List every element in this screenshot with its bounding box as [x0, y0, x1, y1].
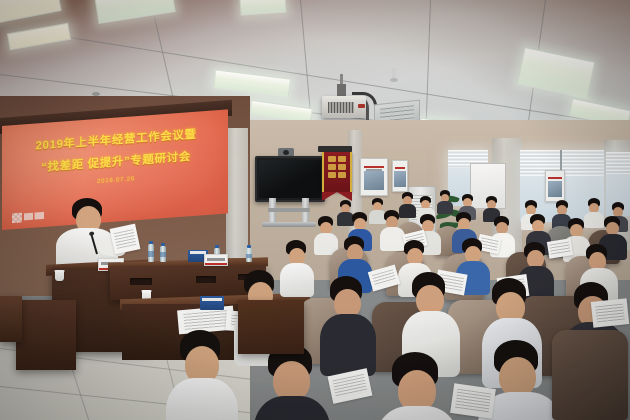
handout [591, 298, 630, 328]
foreground-desk [16, 300, 76, 370]
flat-screen-tv [255, 156, 325, 202]
foreground-desk [0, 296, 22, 342]
conference-room-photo: 2019年上半年经营工作会议暨 “找差距 促提升”专题研讨会 2019.07.2… [0, 0, 630, 420]
tv-stand-base [262, 222, 316, 227]
projector-vent [328, 102, 354, 113]
wall-poster [360, 158, 388, 196]
tv-stand-shelf [268, 208, 310, 212]
sprinkler-head-icon [392, 68, 396, 80]
logo-mark-icon [12, 212, 22, 223]
paper-cup [55, 270, 64, 281]
water-bottle [160, 246, 166, 262]
tv-screen [259, 160, 321, 198]
award-pennant [322, 152, 352, 192]
pennant-characters [328, 156, 346, 178]
handout [450, 383, 496, 419]
speaker-document [110, 224, 141, 255]
projection-screen: 2019年上半年经营工作会议暨 “找差距 促提升”专题研讨会 2019.07.2… [2, 109, 228, 230]
window-blind[interactable] [606, 152, 630, 174]
foreground-desk [238, 300, 304, 354]
water-bottle [148, 244, 154, 262]
wall-poster [392, 160, 408, 192]
table-cable-port [196, 276, 216, 283]
wall-poster [545, 170, 565, 202]
projector-indicator [358, 104, 365, 108]
table-cable-port [130, 278, 152, 285]
logo-wordmark [24, 212, 44, 220]
chair [552, 330, 628, 420]
tissue-box [200, 296, 224, 310]
wall-column [226, 128, 248, 258]
water-bottle [246, 248, 252, 262]
table-nameplate [204, 254, 228, 266]
